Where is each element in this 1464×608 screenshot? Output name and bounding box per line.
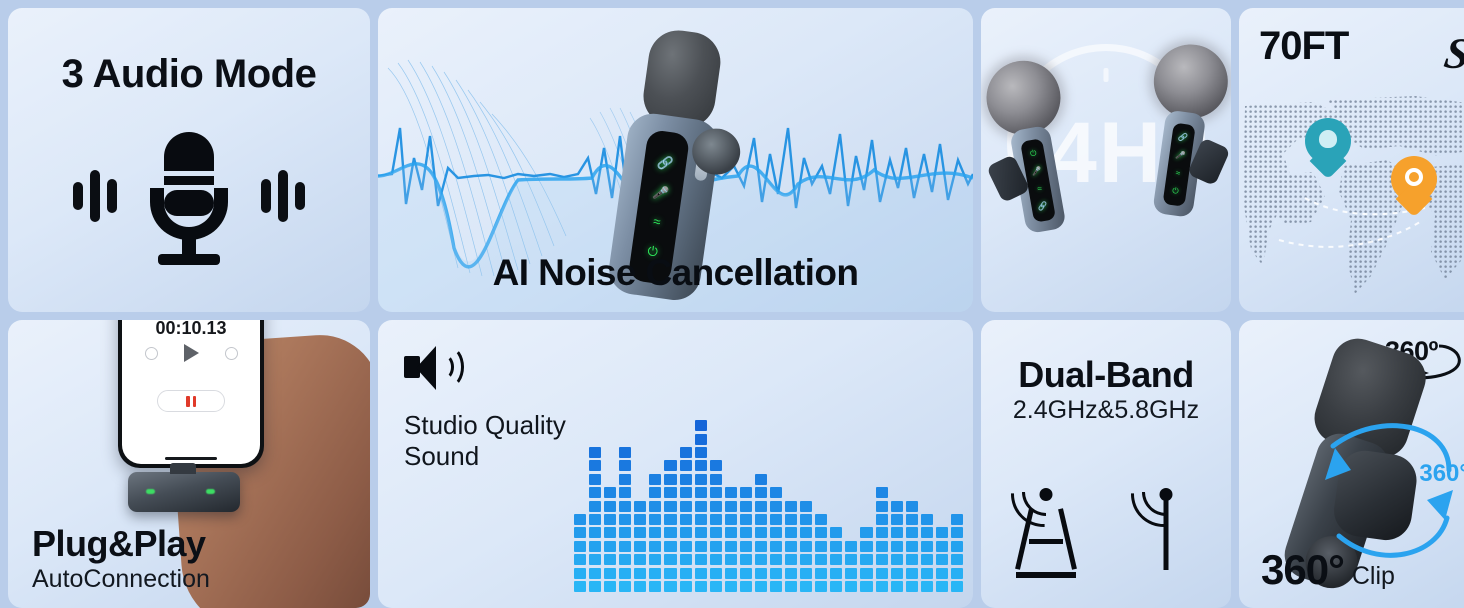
eq-segment (680, 501, 692, 512)
eq-segment (755, 581, 767, 592)
eq-bar (680, 447, 692, 592)
eq-segment (936, 568, 948, 579)
panel-plug-play: · 00:05 00:10 00:15 00:10.13 (8, 320, 370, 608)
eq-segment (649, 568, 661, 579)
eq-segment (845, 554, 857, 565)
eq-segment (876, 541, 888, 552)
eq-segment (740, 554, 752, 565)
eq-segment (680, 527, 692, 538)
eq-segment (770, 527, 782, 538)
eq-segment (589, 581, 601, 592)
eq-segment (845, 581, 857, 592)
eq-segment (891, 514, 903, 525)
eq-segment (710, 460, 722, 471)
eq-segment (664, 501, 676, 512)
eq-segment (725, 581, 737, 592)
eq-segment (680, 514, 692, 525)
eq-segment (649, 514, 661, 525)
phone-screen: · 00:05 00:10 00:15 00:10.13 (122, 320, 260, 464)
eq-segment (951, 541, 963, 552)
eq-segment (936, 527, 948, 538)
eq-segment (725, 527, 737, 538)
clip-arm (1331, 447, 1420, 543)
eq-segment (876, 487, 888, 498)
noise-cancel-icon: ≈ (1037, 185, 1043, 194)
eq-segment (710, 487, 722, 498)
microphone-icon: 🎤 (1175, 151, 1186, 160)
eq-segment (604, 554, 616, 565)
eq-segment (845, 541, 857, 552)
eq-segment (680, 554, 692, 565)
eq-segment (815, 568, 827, 579)
eq-segment (695, 420, 707, 431)
eq-segment (634, 581, 646, 592)
eq-bar (574, 514, 586, 592)
panel-studio-sound: Studio Quality Sound (378, 320, 973, 608)
eq-bar (725, 487, 737, 592)
eq-segment (710, 541, 722, 552)
eq-bar (695, 420, 707, 592)
eq-segment (921, 541, 933, 552)
eq-segment (891, 527, 903, 538)
eq-segment (876, 527, 888, 538)
microphone-icon: 🎤 (652, 185, 670, 200)
eq-segment (785, 501, 797, 512)
eq-segment (755, 501, 767, 512)
play-icon[interactable] (184, 344, 199, 362)
eq-segment (589, 501, 601, 512)
battery-icon: ⏻ (1030, 149, 1038, 158)
eq-segment (725, 487, 737, 498)
antenna-icons (981, 460, 1231, 578)
eq-segment (830, 568, 842, 579)
eq-segment (755, 554, 767, 565)
eq-segment (740, 581, 752, 592)
eq-segment (740, 541, 752, 552)
eq-segment (695, 581, 707, 592)
eq-segment (906, 501, 918, 512)
plug-play-title: Plug&Play (32, 523, 210, 565)
eq-segment (664, 474, 676, 485)
eq-segment (664, 460, 676, 471)
eq-segment (785, 527, 797, 538)
eq-segment (589, 514, 601, 525)
eq-segment (740, 568, 752, 579)
eq-segment (815, 527, 827, 538)
eq-segment (951, 554, 963, 565)
eq-segment (860, 568, 872, 579)
eq-bar (951, 514, 963, 592)
eq-segment (876, 581, 888, 592)
eq-bar (770, 487, 782, 592)
eq-segment (876, 554, 888, 565)
equalizer-chart (574, 424, 963, 592)
dual-band-subtitle: 2.4GHz&5.8GHz (981, 396, 1231, 425)
eq-bar (815, 514, 827, 592)
eq-segment (574, 541, 586, 552)
eq-segment (619, 541, 631, 552)
eq-segment (725, 568, 737, 579)
eq-segment (891, 501, 903, 512)
eq-segment (876, 514, 888, 525)
eq-segment (936, 554, 948, 565)
eq-segment (800, 554, 812, 565)
ai-noise-caption: AI Noise Cancellation (378, 252, 973, 294)
eq-segment (680, 447, 692, 458)
eq-segment (695, 541, 707, 552)
eq-segment (574, 527, 586, 538)
antenna-tower-icon (1002, 460, 1090, 578)
eq-bar (785, 501, 797, 592)
antenna-mast-icon (1122, 460, 1210, 578)
eq-segment (695, 568, 707, 579)
eq-bar (589, 447, 601, 592)
furry-windscreen (1149, 40, 1231, 124)
eq-segment (589, 474, 601, 485)
link-icon: 🔗 (656, 155, 674, 170)
eq-segment (664, 487, 676, 498)
eq-segment (619, 460, 631, 471)
eq-segment (770, 568, 782, 579)
noise-cancel-icon: ≈ (1175, 169, 1180, 178)
eq-segment (710, 554, 722, 565)
eq-segment (906, 514, 918, 525)
recording-timer: 00:10.13 (122, 320, 260, 339)
eq-segment (845, 568, 857, 579)
eq-segment (604, 487, 616, 498)
eq-segment (876, 568, 888, 579)
location-pin-icon (1391, 156, 1437, 216)
microphone-icon: 🎤 (1031, 167, 1042, 177)
eq-segment (860, 581, 872, 592)
link-icon: 🔗 (1037, 202, 1048, 212)
eq-segment (649, 474, 661, 485)
eq-segment (649, 554, 661, 565)
eq-bar (800, 501, 812, 592)
eq-segment (710, 474, 722, 485)
eq-segment (876, 501, 888, 512)
noise-cancel-icon: ≈ (652, 215, 661, 229)
panel-ai-noise-cancellation: 🔗 🎤 ≈ ⏻ AI Noise Cancellation (378, 8, 973, 312)
eq-segment (634, 501, 646, 512)
eq-bar (891, 501, 903, 592)
eq-segment (906, 541, 918, 552)
eq-segment (860, 541, 872, 552)
eq-segment (695, 501, 707, 512)
eq-segment (755, 514, 767, 525)
eq-segment (589, 541, 601, 552)
eq-bar (740, 487, 752, 592)
eq-segment (906, 581, 918, 592)
eq-segment (619, 554, 631, 565)
panel-audio-mode: 3 Audio Mode (8, 8, 370, 312)
eq-segment (574, 514, 586, 525)
eq-segment (785, 568, 797, 579)
audio-mode-title: 3 Audio Mode (62, 52, 317, 96)
eq-bar (936, 527, 948, 592)
microphone-waveform-icon (8, 126, 370, 266)
eq-segment (589, 447, 601, 458)
rotation-side-label: 360° (1419, 460, 1464, 488)
eq-segment (649, 581, 661, 592)
eq-segment (604, 541, 616, 552)
eq-segment (710, 527, 722, 538)
eq-segment (770, 501, 782, 512)
lavalier-receiver-icon (128, 472, 240, 512)
eq-segment (906, 527, 918, 538)
eq-segment (695, 514, 707, 525)
eq-bar (755, 474, 767, 592)
eq-segment (800, 541, 812, 552)
eq-segment (710, 568, 722, 579)
eq-bar (921, 514, 933, 592)
plug-play-subtitle: AutoConnection (32, 565, 210, 594)
eq-segment (634, 554, 646, 565)
link-icon: 🔗 (1177, 133, 1188, 142)
battery-icon: ⏻ (1172, 187, 1179, 196)
eq-segment (755, 541, 767, 552)
panel-range: 70FT S (1239, 8, 1464, 312)
eq-segment (664, 514, 676, 525)
eq-segment (951, 527, 963, 538)
eq-segment (634, 514, 646, 525)
speaker-volume-icon (404, 344, 462, 390)
eq-segment (785, 581, 797, 592)
eq-bar (906, 501, 918, 592)
eq-left-group (73, 170, 117, 222)
eq-segment (755, 568, 767, 579)
eq-bar (604, 487, 616, 592)
eq-segment (740, 487, 752, 498)
home-indicator (165, 457, 217, 460)
eq-segment (649, 487, 661, 498)
eq-segment (634, 568, 646, 579)
status-led (146, 489, 155, 494)
eq-segment (755, 527, 767, 538)
eq-segment (649, 541, 661, 552)
eq-segment (664, 568, 676, 579)
eq-segment (680, 460, 692, 471)
eq-bar (845, 541, 857, 592)
eq-segment (574, 568, 586, 579)
eq-segment (770, 514, 782, 525)
eq-segment (951, 568, 963, 579)
eq-bar (619, 447, 631, 592)
eq-segment (604, 581, 616, 592)
eq-segment (725, 514, 737, 525)
eq-segment (664, 527, 676, 538)
eq-segment (740, 527, 752, 538)
mic-body: 🔗 🎤 ≈ ⏻ (1152, 109, 1206, 218)
eq-segment (619, 581, 631, 592)
eq-segment (589, 487, 601, 498)
eq-segment (619, 527, 631, 538)
eq-segment (936, 541, 948, 552)
smartphone: · 00:05 00:10 00:15 00:10.13 (118, 320, 264, 468)
eq-segment (680, 541, 692, 552)
clip-title-small: Clip (1352, 562, 1395, 591)
eq-segment (921, 514, 933, 525)
eq-segment (725, 554, 737, 565)
eq-segment (921, 581, 933, 592)
eq-segment (770, 581, 782, 592)
eq-segment (664, 581, 676, 592)
skip-forward-15-icon[interactable] (225, 347, 238, 360)
pause-button[interactable] (157, 390, 225, 412)
eq-segment (830, 527, 842, 538)
eq-segment (725, 541, 737, 552)
eq-segment (800, 581, 812, 592)
eq-segment (815, 514, 827, 525)
eq-segment (680, 487, 692, 498)
panel-battery-life: 4H ⏻ 🎤 ≈ 🔗 🔗 🎤 ≈ ⏻ (981, 8, 1231, 312)
eq-segment (695, 487, 707, 498)
plug-play-caption: Plug&Play AutoConnection (32, 523, 210, 594)
ai-noise-title: AI Noise Cancellation (493, 252, 859, 293)
eq-segment (589, 554, 601, 565)
eq-segment (830, 581, 842, 592)
eq-segment (951, 514, 963, 525)
eq-segment (951, 581, 963, 592)
eq-segment (800, 501, 812, 512)
eq-segment (830, 541, 842, 552)
eq-segment (906, 554, 918, 565)
eq-segment (891, 554, 903, 565)
range-title: 70FT (1259, 24, 1348, 69)
status-led (206, 489, 215, 494)
eq-segment (891, 581, 903, 592)
eq-segment (619, 447, 631, 458)
eq-segment (604, 527, 616, 538)
skip-back-15-icon[interactable] (145, 347, 158, 360)
eq-segment (740, 514, 752, 525)
eq-segment (619, 474, 631, 485)
eq-segment (604, 514, 616, 525)
eq-segment (815, 554, 827, 565)
eq-segment (815, 541, 827, 552)
eq-segment (725, 501, 737, 512)
clip-caption: 360° Clip (1261, 546, 1395, 594)
eq-segment (680, 581, 692, 592)
eq-right-group (261, 170, 305, 222)
eq-segment (830, 554, 842, 565)
feature-infographic: 3 Audio Mode (0, 0, 1464, 600)
dual-band-title: Dual-Band (981, 354, 1231, 396)
eq-segment (755, 487, 767, 498)
eq-segment (906, 568, 918, 579)
eq-segment (921, 527, 933, 538)
eq-segment (860, 554, 872, 565)
eq-segment (695, 554, 707, 565)
eq-segment (921, 554, 933, 565)
eq-segment (574, 581, 586, 592)
eq-segment (770, 541, 782, 552)
location-pin-mic-icon (1305, 118, 1351, 178)
eq-bar (876, 487, 888, 592)
eq-segment (619, 487, 631, 498)
eq-bar (664, 460, 676, 592)
eq-bar (649, 474, 661, 592)
eq-segment (664, 554, 676, 565)
audio-mode-heading: 3 Audio Mode (8, 52, 370, 97)
eq-segment (649, 527, 661, 538)
eq-segment (664, 541, 676, 552)
eq-segment (860, 527, 872, 538)
eq-segment (755, 474, 767, 485)
eq-segment (936, 581, 948, 592)
pause-icon (193, 396, 197, 407)
eq-segment (770, 487, 782, 498)
microphone-icon (130, 126, 248, 266)
eq-segment (619, 501, 631, 512)
eq-segment (815, 581, 827, 592)
brand-s-icon: S (1440, 27, 1464, 80)
eq-segment (800, 527, 812, 538)
eq-segment (785, 554, 797, 565)
eq-segment (800, 568, 812, 579)
connector-pin (170, 463, 196, 474)
eq-segment (604, 568, 616, 579)
eq-segment (695, 447, 707, 458)
eq-segment (619, 568, 631, 579)
eq-segment (619, 514, 631, 525)
eq-segment (921, 568, 933, 579)
eq-bar (710, 460, 722, 592)
eq-segment (710, 501, 722, 512)
eq-segment (891, 541, 903, 552)
eq-segment (785, 541, 797, 552)
eq-segment (604, 501, 616, 512)
pause-icon (186, 396, 190, 407)
eq-segment (740, 501, 752, 512)
eq-segment (589, 460, 601, 471)
eq-segment (710, 514, 722, 525)
eq-segment (634, 541, 646, 552)
eq-bar (634, 501, 646, 592)
eq-bar (860, 527, 872, 592)
eq-segment (589, 568, 601, 579)
eq-segment (680, 568, 692, 579)
eq-segment (695, 434, 707, 445)
mic-body: ⏻ 🎤 ≈ 🔗 (1009, 125, 1066, 234)
eq-segment (680, 474, 692, 485)
eq-bar (830, 527, 842, 592)
eq-segment (785, 514, 797, 525)
eq-segment (589, 527, 601, 538)
eq-segment (574, 554, 586, 565)
eq-segment (695, 527, 707, 538)
furry-windscreen (981, 55, 1066, 141)
eq-segment (710, 581, 722, 592)
eq-segment (891, 568, 903, 579)
eq-segment (800, 514, 812, 525)
eq-segment (634, 527, 646, 538)
panel-360-clip: 360º 360° 360° Clip (1239, 320, 1464, 608)
eq-segment (695, 474, 707, 485)
eq-segment (649, 501, 661, 512)
transport-controls (122, 344, 260, 362)
eq-segment (770, 554, 782, 565)
clip-title-big: 360° (1261, 546, 1344, 594)
panel-dual-band: Dual-Band 2.4GHz&5.8GHz (981, 320, 1231, 608)
eq-segment (695, 460, 707, 471)
dual-band-heading: Dual-Band 2.4GHz&5.8GHz (981, 354, 1231, 425)
